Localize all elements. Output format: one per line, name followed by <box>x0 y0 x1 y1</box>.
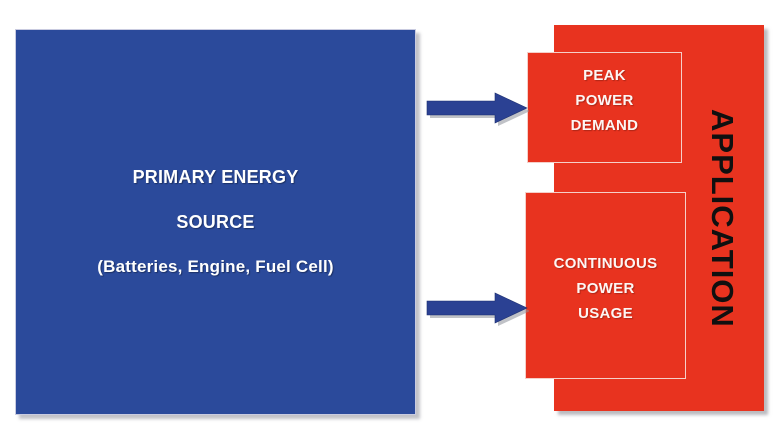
primary-energy-source-line-1: PRIMARY ENERGY <box>133 167 299 188</box>
peak-power-demand-line-2: POWER <box>575 88 633 113</box>
diagram-canvas: PRIMARY ENERGY SOURCE (Batteries, Engine… <box>0 0 778 429</box>
peak-power-demand-line-1: PEAK <box>583 63 626 88</box>
primary-energy-source-box: PRIMARY ENERGY SOURCE (Batteries, Engine… <box>15 29 416 415</box>
application-label: APPLICATION <box>694 25 750 411</box>
continuous-power-usage-line-2: POWER <box>576 276 634 301</box>
primary-energy-source-line-3: (Batteries, Engine, Fuel Cell) <box>97 257 334 277</box>
right-arrow-icon <box>427 293 529 326</box>
peak-power-demand-line-3: DEMAND <box>571 113 639 138</box>
arrow-to-peak-power <box>423 90 529 126</box>
arrow-to-continuous-power <box>423 290 529 326</box>
peak-power-demand-box: PEAK POWER DEMAND <box>527 52 682 163</box>
continuous-power-usage-line-1: CONTINUOUS <box>554 251 658 276</box>
primary-energy-source-line-2: SOURCE <box>176 212 254 233</box>
continuous-power-usage-line-3: USAGE <box>578 301 633 326</box>
right-arrow-icon <box>427 93 529 126</box>
continuous-power-usage-box: CONTINUOUS POWER USAGE <box>525 192 686 379</box>
